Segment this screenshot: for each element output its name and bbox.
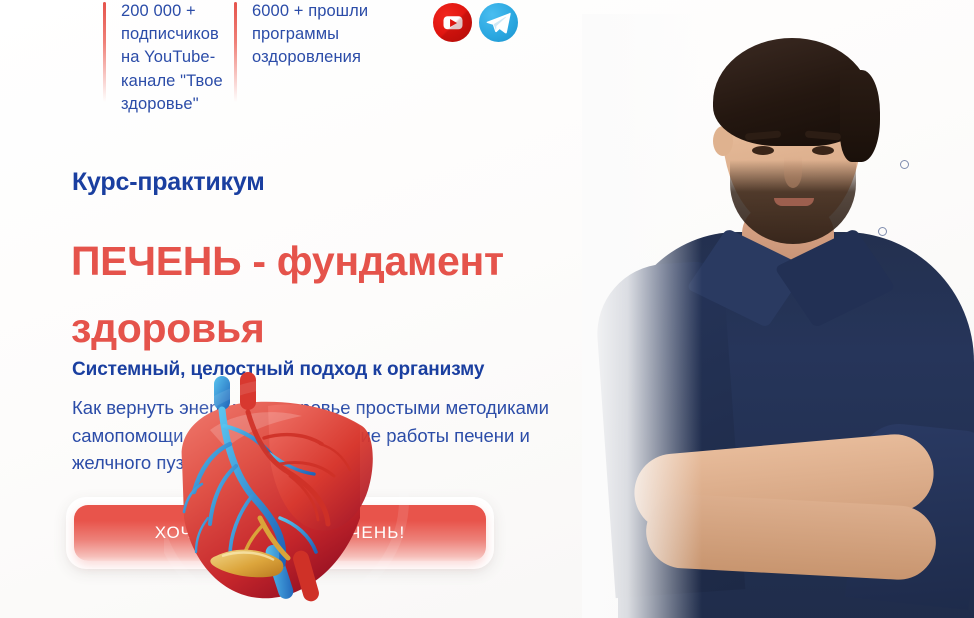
stat-item: 200 000 + подписчиков на YouTube-канале … xyxy=(103,0,234,116)
portrait-hair-side xyxy=(840,70,880,162)
social-links xyxy=(433,3,518,42)
youtube-icon[interactable] xyxy=(433,3,472,42)
course-kicker: Курс-практикум xyxy=(72,168,265,197)
portrait-edge-fade xyxy=(582,14,702,618)
hero-visual: АВТОР ЕВГЕНИЙ К Дипломированный экспе сф… xyxy=(554,0,974,618)
stat-item: 6000 + прошли программы оздоровления xyxy=(234,0,394,70)
telegram-plane-glyph xyxy=(486,12,511,34)
portrait-shirt-button xyxy=(878,227,887,236)
anatomical-liver-illustration xyxy=(164,368,464,618)
portrait-eye xyxy=(752,146,774,155)
stat-text: 200 000 + подписчиков на YouTube-канале … xyxy=(121,0,234,116)
stat-divider-line xyxy=(234,2,237,102)
stats-row: 200 000 + подписчиков на YouTube-канале … xyxy=(103,0,394,116)
author-portrait-photo xyxy=(582,14,974,618)
page-title: ПЕЧЕНЬ - фундамент здоровья xyxy=(71,228,611,362)
portrait-shirt-button xyxy=(900,160,909,169)
portrait-eye xyxy=(812,146,834,155)
stat-divider-line xyxy=(103,2,106,102)
landing-page: 200 000 + подписчиков на YouTube-канале … xyxy=(0,0,974,618)
portrait-mouth xyxy=(774,198,814,206)
youtube-shade xyxy=(433,3,472,42)
stat-text: 6000 + прошли программы оздоровления xyxy=(252,0,394,70)
portrait-nose xyxy=(784,156,802,188)
telegram-icon[interactable] xyxy=(479,3,518,42)
